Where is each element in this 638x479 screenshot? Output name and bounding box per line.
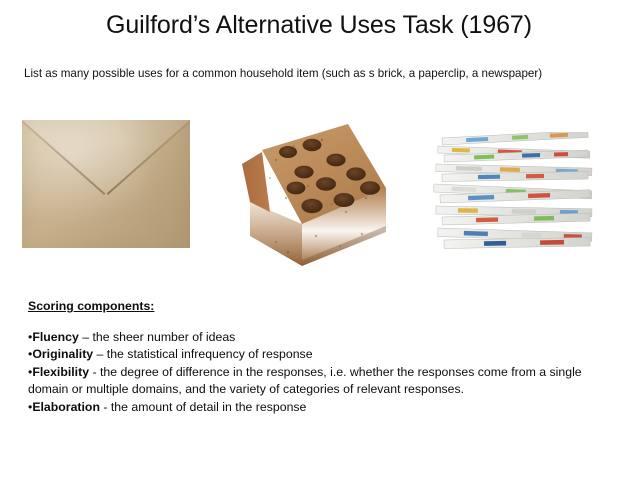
list-item: •Flexibility - the degree of difference … xyxy=(28,364,618,399)
scoring-list: •Fluency – the sheer number of ideas •Or… xyxy=(28,329,618,416)
page-title: Guilford’s Alternative Uses Task (1967) xyxy=(0,9,638,41)
slide-canvas: Guilford’s Alternative Uses Task (1967) … xyxy=(0,0,638,479)
score-description: – the statistical infrequency of respons… xyxy=(93,347,312,361)
envelope-shading xyxy=(103,120,190,248)
brick-front-left-face xyxy=(250,202,302,266)
list-item: •Fluency – the sheer number of ideas xyxy=(28,329,618,346)
score-description: - the amount of detail in the response xyxy=(100,400,306,414)
score-description: - the degree of difference in the respon… xyxy=(28,365,582,396)
image-row xyxy=(0,110,638,275)
newspaper-stack-image xyxy=(430,132,602,262)
newspaper-stack-illustration xyxy=(430,132,602,262)
score-term: Elaboration xyxy=(32,400,100,414)
scoring-heading: Scoring components: xyxy=(28,298,618,315)
score-term: Originality xyxy=(32,347,93,361)
envelope-body xyxy=(22,120,190,248)
envelope-image xyxy=(22,120,190,248)
score-term: Fluency xyxy=(32,330,78,344)
score-term: Flexibility xyxy=(32,365,89,379)
score-description: – the sheer number of ideas xyxy=(79,330,236,344)
brick-illustration xyxy=(236,116,388,272)
list-item: •Elaboration - the amount of detail in t… xyxy=(28,399,618,416)
brick-left-face xyxy=(242,152,270,212)
task-prompt: List as many possible uses for a common … xyxy=(24,66,624,82)
scoring-components-block: Scoring components: •Fluency – the sheer… xyxy=(28,298,618,416)
list-item: •Originality – the statistical infrequen… xyxy=(28,346,618,363)
brick-image xyxy=(236,116,388,272)
newspaper-layers xyxy=(434,132,592,248)
